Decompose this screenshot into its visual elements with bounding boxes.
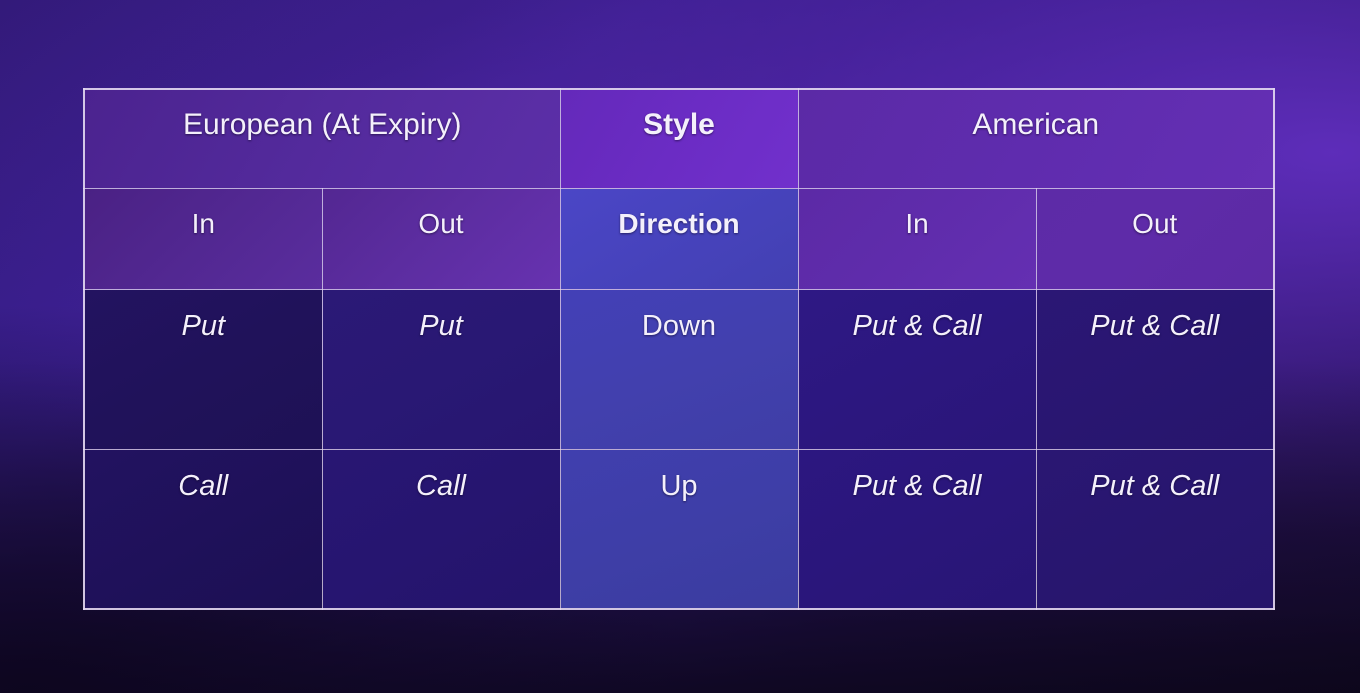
table-row-down: Put Put Down Put & Call Put & Call <box>84 289 1274 449</box>
sub-header-european-in: In <box>84 188 322 289</box>
cell-up-american-out: Put & Call <box>1036 449 1274 609</box>
cell-up-american-in-label: Put & Call <box>799 450 1036 501</box>
table-row-sub-headers: In Out Direction In Out <box>84 188 1274 289</box>
cell-up-european-in: Call <box>84 449 322 609</box>
cell-down-american-out-label: Put & Call <box>1037 290 1274 341</box>
cell-up-direction: Up <box>560 449 798 609</box>
cell-down-european-out-label: Put <box>323 290 560 341</box>
group-header-style: Style <box>560 89 798 188</box>
cell-down-american-in-label: Put & Call <box>799 290 1036 341</box>
sub-header-american-in-label: In <box>799 189 1036 238</box>
group-header-american: American <box>798 89 1274 188</box>
group-header-style-label: Style <box>561 90 798 140</box>
sub-header-american-in: In <box>798 188 1036 289</box>
cell-down-american-out: Put & Call <box>1036 289 1274 449</box>
cell-up-european-in-label: Call <box>85 450 322 501</box>
cell-up-european-out: Call <box>322 449 560 609</box>
group-header-european: European (At Expiry) <box>84 89 560 188</box>
cell-down-european-out: Put <box>322 289 560 449</box>
sub-header-direction-label: Direction <box>561 189 798 238</box>
cell-up-american-out-label: Put & Call <box>1037 450 1274 501</box>
table-row-up: Call Call Up Put & Call Put & Call <box>84 449 1274 609</box>
table-row-group-headers: European (At Expiry) Style American <box>84 89 1274 188</box>
cell-down-american-in: Put & Call <box>798 289 1036 449</box>
cell-down-european-in-label: Put <box>85 290 322 341</box>
cell-up-american-in: Put & Call <box>798 449 1036 609</box>
cell-up-direction-label: Up <box>561 450 798 501</box>
group-header-european-label: European (At Expiry) <box>85 90 560 140</box>
sub-header-american-out-label: Out <box>1037 189 1274 238</box>
cell-down-direction-label: Down <box>561 290 798 341</box>
cell-up-european-out-label: Call <box>323 450 560 501</box>
slide-canvas: European (At Expiry) Style American In O… <box>0 0 1360 693</box>
sub-header-american-out: Out <box>1036 188 1274 289</box>
sub-header-european-out: Out <box>322 188 560 289</box>
sub-header-direction: Direction <box>560 188 798 289</box>
sub-header-european-in-label: In <box>85 189 322 238</box>
sub-header-european-out-label: Out <box>323 189 560 238</box>
cell-down-direction: Down <box>560 289 798 449</box>
group-header-american-label: American <box>799 90 1274 140</box>
option-style-direction-table: European (At Expiry) Style American In O… <box>83 88 1275 610</box>
cell-down-european-in: Put <box>84 289 322 449</box>
